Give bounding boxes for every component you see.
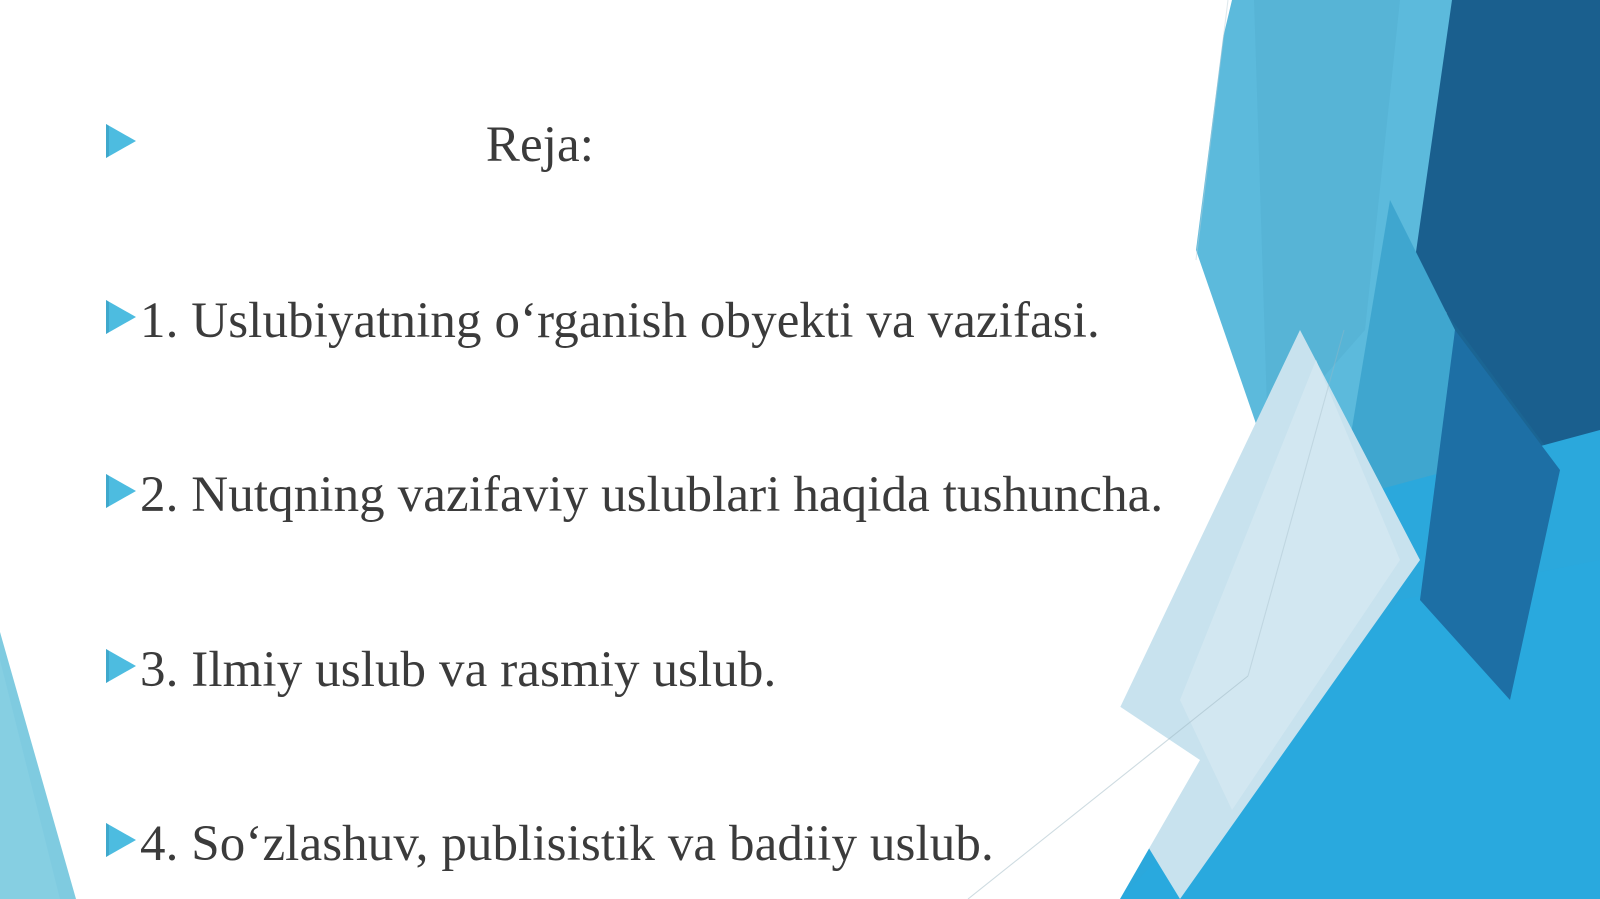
slide-content: Reja: 1. Uslubiyatning o‘rganish obyekti…	[0, 0, 1340, 899]
decor-dark-blue-column	[1380, 0, 1600, 899]
bullet-text: 4. So‘zlashuv, publisistik va badiiy usl…	[140, 819, 994, 870]
triangle-right-icon	[104, 472, 138, 510]
slide-title: Reja:	[0, 120, 1080, 171]
triangle-right-icon	[104, 298, 138, 336]
decor-teal-facet	[1330, 200, 1455, 640]
bullet-line: 2. Nutqning vazifaviy uslublari haqida t…	[0, 462, 1340, 550]
bullet-line: 1. Uslubiyatning o‘rganish obyekti va va…	[0, 288, 1340, 376]
triangle-right-icon	[104, 647, 138, 685]
presentation-slide: Reja: 1. Uslubiyatning o‘rganish obyekti…	[0, 0, 1600, 899]
decor-deep-blue-sliver	[1420, 330, 1560, 700]
triangle-right-icon	[104, 821, 138, 859]
bullet-line: 3. Ilmiy uslub va rasmiy uslub.	[0, 637, 1340, 725]
bullet-text: 2. Nutqning vazifaviy uslublari haqida t…	[140, 470, 1163, 521]
bullet-line: 4. So‘zlashuv, publisistik va badiiy usl…	[0, 811, 1340, 899]
decor-dark-blue-wedge	[1400, 0, 1600, 520]
bullet-text: 1. Uslubiyatning o‘rganish obyekti va va…	[140, 296, 1100, 347]
bullet-line: Reja:	[0, 112, 1340, 200]
bullet-text: 3. Ilmiy uslub va rasmiy uslub.	[140, 645, 776, 696]
